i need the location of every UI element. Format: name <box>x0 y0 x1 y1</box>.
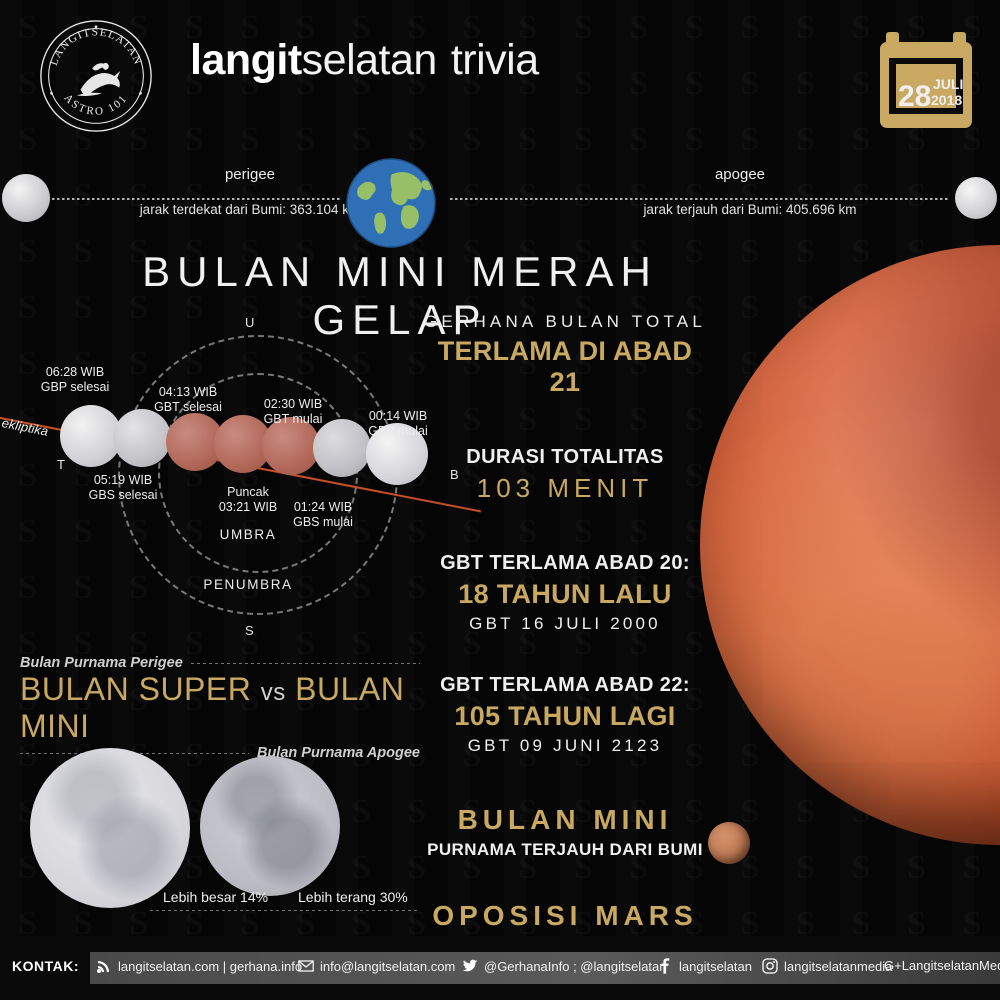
footer-item-googleplus[interactable]: G+LangitselatanMedia <box>884 958 1000 973</box>
event-time-2: 05:19 WIB <box>94 473 152 487</box>
event-phase-6: GBP mulai <box>368 424 428 438</box>
calendar-day: 28 <box>898 80 931 114</box>
supermoon-disc <box>30 748 190 908</box>
ecliptic-label: ekliptika <box>1 415 50 439</box>
stat-brightness-label: Lebih terang 30% <box>298 889 408 905</box>
instagram-icon <box>762 958 778 974</box>
century20-date: GBT 16 JULI 2000 <box>420 614 710 634</box>
footer: KONTAK: langitselatan.com | gerhana.info… <box>0 936 1000 1000</box>
apogee-label: apogee <box>610 166 870 183</box>
moon-phase-2 <box>113 409 171 467</box>
minimoon-sub: PURNAMA TERJAUH DARI BUMI <box>420 840 710 860</box>
event-phase-5: GBS mulai <box>293 515 353 529</box>
kontak-label: KONTAK: <box>12 958 79 974</box>
info-column: GERHANA BULAN TOTAL TERLAMA DI ABAD 21 D… <box>420 312 710 980</box>
comparison-title-vs: vs <box>261 679 286 706</box>
event-time-1: 06:28 WIB <box>46 365 104 379</box>
umbra-label: UMBRA <box>196 527 300 542</box>
event-phase-1: GBP selesai <box>41 380 110 394</box>
apogee-distance: jarak terjauh dari Bumi: 405.696 km <box>560 202 940 217</box>
comparison-rule-top <box>191 663 420 664</box>
supermoon-comparison-header: Bulan Purnama Perigee BULAN SUPER vs BUL… <box>20 655 420 761</box>
langitselatan-logo: LANGITSELATAN ASTRO 101 <box>38 18 154 134</box>
duration-value: 103 MENIT <box>420 473 710 504</box>
earth-icon <box>346 158 436 248</box>
perigee-label: perigee <box>120 166 380 183</box>
peak-time: 03:21 WIB <box>219 500 277 514</box>
comparison-title-super: BULAN SUPER <box>20 671 251 707</box>
mars-headline: OPOSISI MARS <box>420 900 710 932</box>
comparison-title: BULAN SUPER vs BULAN MINI <box>20 671 420 745</box>
minimoon-disc <box>200 756 340 896</box>
century20-kicker: GBT TERLAMA ABAD 20: <box>420 552 710 575</box>
eclipse-headline: TERLAMA DI ABAD 21 <box>420 336 710 398</box>
event-time-3: 04:13 WIB <box>159 385 217 399</box>
footer-googleplus-text: G+LangitselatanMedia <box>884 958 1000 973</box>
twitter-icon <box>462 958 478 974</box>
century22-kicker: GBT TERLAMA ABAD 22: <box>420 674 710 697</box>
apogee-moon <box>955 177 997 219</box>
infographic-canvas: SSSSSSSSSSSSSSSSSSSSSSSSSSSSSSSSSSSSSSSS… <box>0 0 1000 1000</box>
comparison-stats-rule <box>150 910 420 911</box>
footer-item-instagram[interactable]: langitselatanmedia <box>762 958 892 974</box>
header: LANGITSELATAN ASTRO 101 langitselatantri… <box>0 0 1000 150</box>
peak-text: Puncak <box>227 485 269 499</box>
orbit-line-right <box>450 198 950 200</box>
event-phase-4: GBT mulai <box>264 412 323 426</box>
envelope-icon <box>298 958 314 974</box>
facebook-icon <box>657 958 673 974</box>
century22-date: GBT 09 JUNI 2123 <box>420 736 710 756</box>
footer-email-text: info@langitselatan.com <box>320 959 455 974</box>
event-phase-3: GBT selesai <box>154 400 222 414</box>
century20-value: 18 TAHUN LALU <box>420 579 710 610</box>
footer-facebook-text: langitselatan <box>679 959 752 974</box>
peak-label: Puncak 03:21 WIB <box>193 485 303 515</box>
calendar-badge: 28 JULI 2018 <box>878 28 974 132</box>
compass-south: S <box>245 623 255 638</box>
eclipsed-moon-illustration <box>700 245 1000 845</box>
footer-item-twitter[interactable]: @GerhanaInfo ; @langitselatan <box>462 958 667 974</box>
stat-size-label: Lebih besar 14% <box>163 889 268 905</box>
penumbra-label: PENUMBRA <box>186 577 310 592</box>
eclipse-kicker: GERHANA BULAN TOTAL <box>420 312 710 332</box>
event-phase-2: GBS selesai <box>89 488 158 502</box>
eclipse-diagram: ekliptika U S T B 06:28 WIB GBP selesai … <box>0 305 470 650</box>
svg-text:ASTRO 101: ASTRO 101 <box>62 92 131 118</box>
brand-title: langitselatantrivia <box>190 36 539 85</box>
brand-light: selatan <box>302 36 437 84</box>
event-time-4: 02:30 WIB <box>264 397 322 411</box>
event-label-3: 04:13 WIB GBT selesai <box>133 385 243 415</box>
footer-instagram-text: langitselatanmedia <box>784 959 892 974</box>
duration-kicker: DURASI TOTALITAS <box>420 446 710 469</box>
brand-trivia: trivia <box>451 36 539 84</box>
compass-north: U <box>245 315 255 330</box>
compass-east: T <box>57 457 66 472</box>
perigee-moon <box>2 174 50 222</box>
footer-item-email[interactable]: info@langitselatan.com <box>298 958 455 974</box>
footer-item-facebook[interactable]: langitselatan <box>657 958 752 974</box>
footer-website-text: langitselatan.com | gerhana.info <box>118 959 302 974</box>
calendar-month: JULI <box>933 76 963 92</box>
event-label-1: 06:28 WIB GBP selesai <box>20 365 130 395</box>
footer-twitter-text: @GerhanaInfo ; @langitselatan <box>484 959 667 974</box>
event-label-4: 02:30 WIB GBT mulai <box>238 397 348 427</box>
rss-icon <box>96 958 112 974</box>
century22-value: 105 TAHUN LAGI <box>420 701 710 732</box>
event-label-2: 05:19 WIB GBS selesai <box>68 473 178 503</box>
footer-item-website[interactable]: langitselatan.com | gerhana.info <box>96 958 302 974</box>
comparison-top-caption: Bulan Purnama Perigee <box>20 655 183 671</box>
mars-disc <box>708 822 750 864</box>
orbit-line-left <box>42 198 342 200</box>
brand-bold: langit <box>190 36 302 84</box>
orbit-distance-band: perigee jarak terdekat dari Bumi: 363.10… <box>0 150 1000 250</box>
event-time-6: 00:14 WIB <box>369 409 427 423</box>
calendar-year: 2018 <box>931 92 962 108</box>
minimoon-headline: BULAN MINI <box>420 804 710 836</box>
